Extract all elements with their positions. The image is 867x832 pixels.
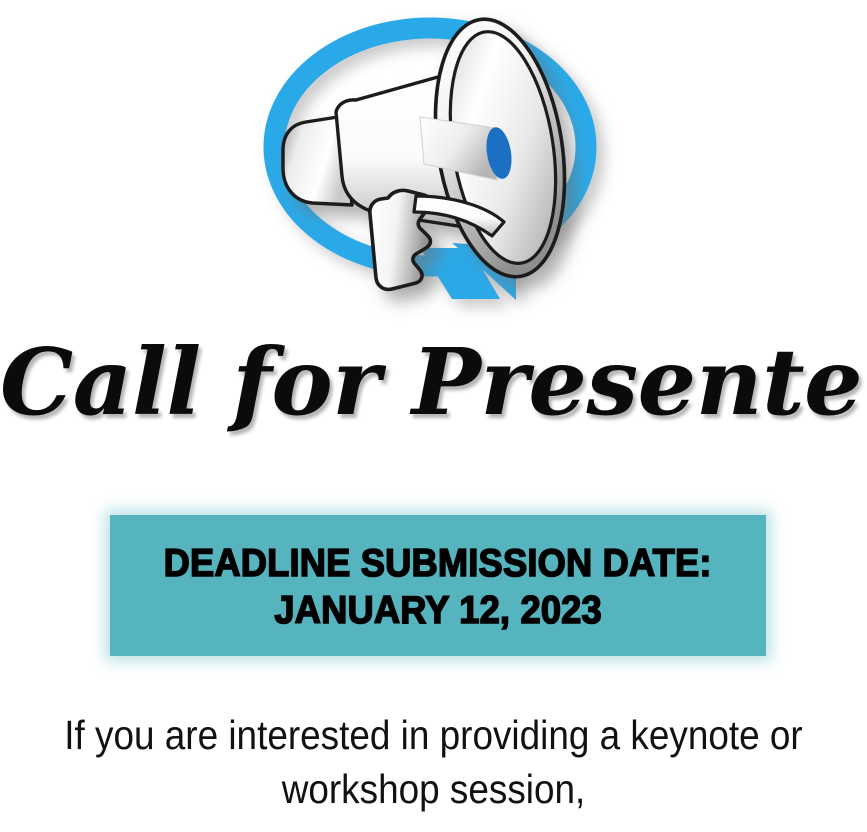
body-copy: If you are interested in providing a key… [43,708,823,816]
flyer-canvas: Call for Presenters DEADLINE SUBMISSION … [0,0,867,832]
deadline-banner: DEADLINE SUBMISSION DATE: JANUARY 12, 20… [110,515,766,656]
megaphone-icon [0,0,867,330]
body-copy-line-2: workshop session, [43,762,823,816]
body-copy-line-1: If you are interested in providing a key… [43,708,823,762]
page-title: Call for Presenters [0,336,867,428]
deadline-banner-line-1: DEADLINE SUBMISSION DATE: [164,541,712,587]
deadline-banner-line-2: JANUARY 12, 2023 [274,588,602,634]
